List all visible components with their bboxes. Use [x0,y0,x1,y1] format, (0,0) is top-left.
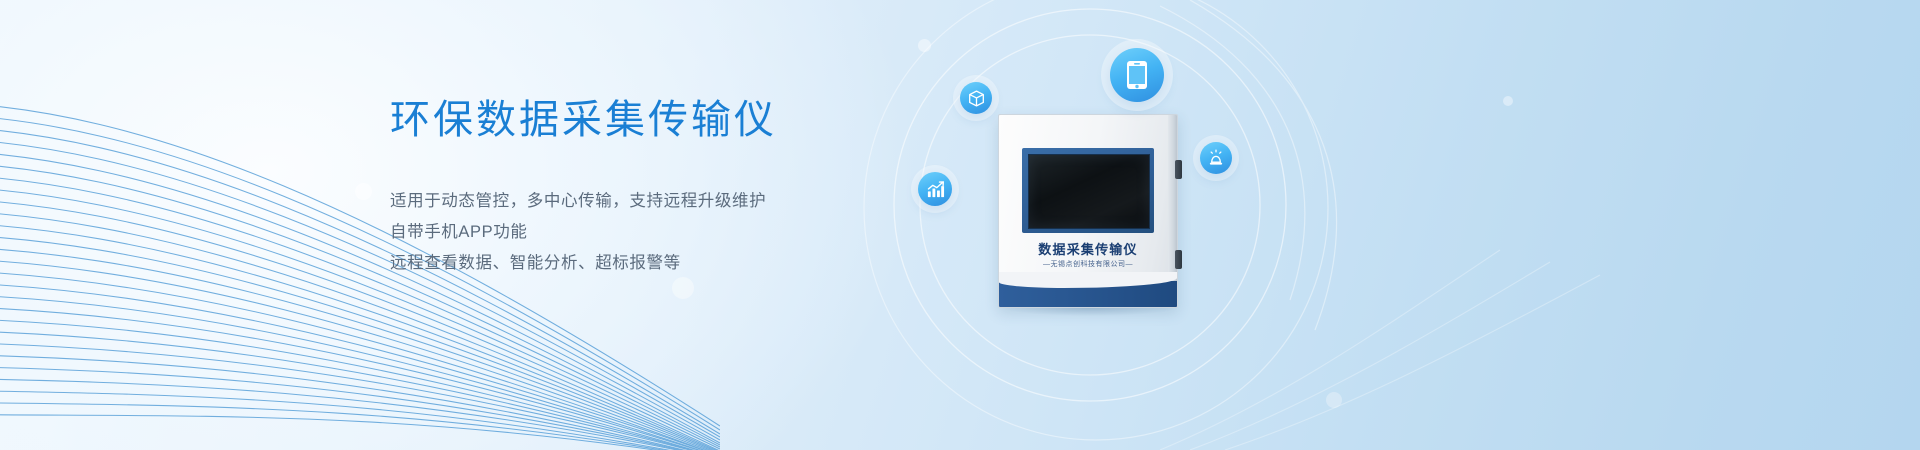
smartphone-icon [1110,48,1164,102]
description-line-3: 远程查看数据、智能分析、超标报警等 [390,248,910,279]
device-company-label: —无锡点创科技有限公司— [999,259,1177,269]
data-acquisition-device: 数据采集传输仪 —无锡点创科技有限公司— [998,114,1176,310]
device-label: 数据采集传输仪 [999,239,1177,258]
bokeh-dot [355,183,372,200]
device-screen-bezel [1022,148,1154,233]
description-line-2: 自带手机APP功能 [390,217,910,248]
bar-chart-growth-icon [918,172,952,206]
alarm-siren-icon [1200,142,1232,174]
device-enclosure: 数据采集传输仪 —无锡点创科技有限公司— [998,114,1178,308]
package-box-icon [960,82,992,114]
product-visual: 数据采集传输仪 —无锡点创科技有限公司— [860,0,1920,450]
banner-copy: 环保数据采集传输仪 适用于动态管控，多中心传输，支持远程升级维护 自带手机APP… [390,96,910,279]
description-line-1: 适用于动态管控，多中心传输，支持远程升级维护 [390,186,910,217]
bokeh-dot [672,277,694,299]
product-hero-banner: 环保数据采集传输仪 适用于动态管控，多中心传输，支持远程升级维护 自带手机APP… [0,0,1920,450]
device-latch [1175,160,1182,179]
device-latch [1175,250,1182,269]
page-title: 环保数据采集传输仪 [390,96,910,144]
device-base-band [999,281,1177,307]
banner-description: 适用于动态管控，多中心传输，支持远程升级维护 自带手机APP功能 远程查看数据、… [390,186,910,279]
device-screen [1028,154,1150,229]
